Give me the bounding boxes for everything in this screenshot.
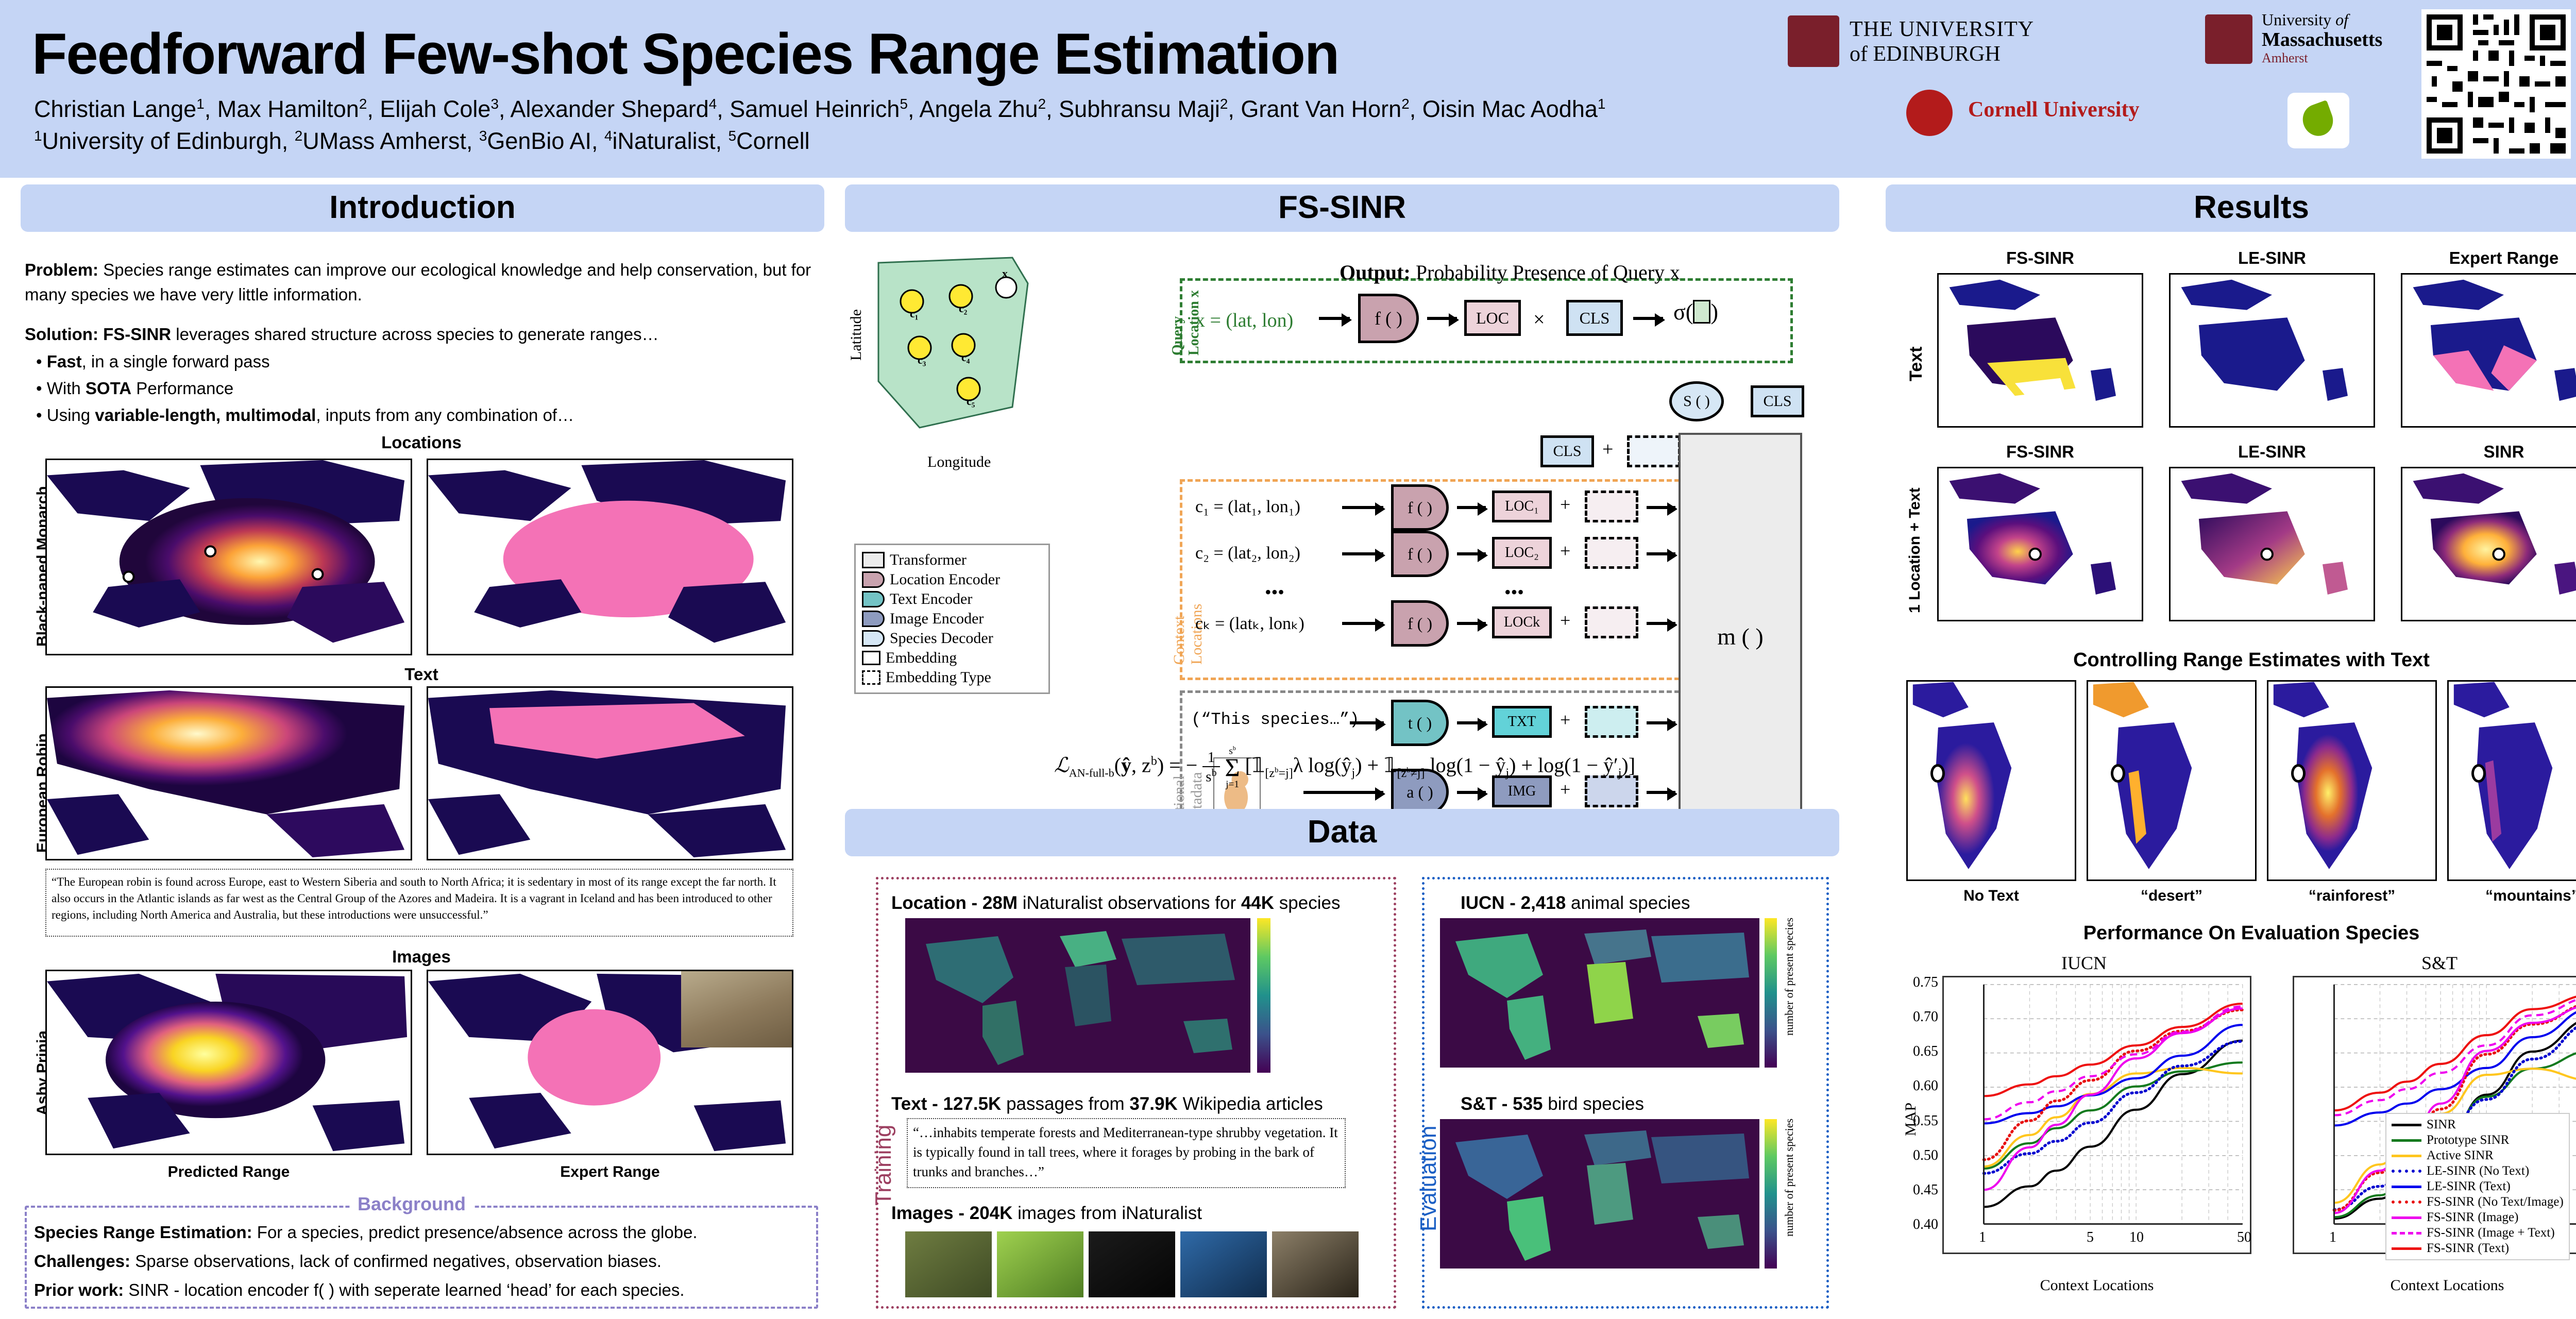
plus-k: + <box>1560 610 1570 631</box>
training-label: Training <box>871 1125 896 1206</box>
legend-line-icon <box>2392 1247 2421 1250</box>
legend-label: SINR <box>2427 1118 2456 1132</box>
image-thumbnail-strip <box>905 1231 1359 1297</box>
map-prinia-expert <box>427 970 793 1155</box>
affiliation-list: 1University of Edinburgh, 2UMass Amherst… <box>34 128 810 155</box>
legend-item-transformer: Transformer <box>862 550 1042 570</box>
iucn-caption: IUCN - 2,418 animal species <box>1461 890 1690 917</box>
species-photo <box>681 971 792 1047</box>
iucn-colorbar <box>1765 918 1777 1068</box>
output-label: Output: Probability Presence of Query x <box>1340 260 1680 284</box>
legend-label: Active SINR <box>2427 1148 2494 1163</box>
iucn-colorbar-label: number of present species <box>1783 918 1796 1036</box>
txt-token: TXT <box>1492 706 1552 738</box>
section-header-results: Results <box>1886 184 2576 232</box>
bullet-2-rest: Performance <box>131 379 233 398</box>
arrow-ctx-kb <box>1457 622 1486 625</box>
text-control-caption-3: “rainforest” <box>2267 887 2437 905</box>
results-map-r1c1 <box>1937 273 2143 428</box>
query-input: x = (lat, lon) <box>1195 309 1293 332</box>
svg-text:c₅: c₅ <box>967 395 975 408</box>
text-control-map-1 <box>1906 680 2076 881</box>
panel-title-text: Text <box>25 665 818 684</box>
arrow-ctx-2a <box>1342 552 1383 555</box>
text-control-caption-1: No Text <box>1906 887 2076 905</box>
embedding-type-txt <box>1585 706 1638 738</box>
results-map-r1c3 <box>2401 273 2576 428</box>
legend-line-icon <box>2392 1155 2421 1157</box>
transformer-swatch-icon <box>862 552 885 568</box>
results-row-label-1loc-text: 1 Location + Text <box>1906 487 1924 613</box>
embedding-type-1 <box>1585 491 1638 522</box>
iucn-rest1: animal species <box>1566 893 1690 913</box>
legend-line-icon <box>2392 1139 2421 1142</box>
bg-1-text: For a species, predict presence/absence … <box>252 1223 698 1242</box>
bullet-2-pre: With <box>47 379 86 398</box>
embedding-type-cls <box>1627 435 1681 467</box>
author-list: Christian Lange1, Max Hamilton2, Elijah … <box>34 96 1605 123</box>
thumbnail <box>1272 1231 1359 1297</box>
text-bold1: Text - 127.5K <box>891 1094 1001 1114</box>
chart-xlabel-st: Context Locations <box>2293 1277 2576 1294</box>
cornell-university-logo: Cornell University <box>1906 88 2226 139</box>
images-data-caption: Images - 204K images from iNaturalist <box>891 1200 1202 1227</box>
chart-iucn <box>1942 976 2251 1254</box>
legend-line-icon <box>2392 1124 2421 1126</box>
solution-label: Solution: FS-SINR <box>25 325 171 344</box>
solution-bullet-3: • Using variable-length, multimodal, inp… <box>36 403 574 428</box>
text-control-title: Controlling Range Estimates with Text <box>1886 649 2576 671</box>
x-tick: 1 <box>2318 1229 2347 1246</box>
location-encoder-swatch-icon <box>862 571 885 588</box>
sigmoid-output: σ() <box>1673 299 1718 325</box>
arrow-ctx-kc <box>1647 622 1675 625</box>
context-input-2: c₂ = (lat₂, lon₂) <box>1195 544 1300 563</box>
arrow-ctx-2c <box>1647 552 1675 555</box>
diagram-legend: Transformer Location Encoder Text Encode… <box>854 544 1050 694</box>
context-ellipsis-right: ••• <box>1504 581 1524 603</box>
results-row-label-text: Text <box>1906 347 1926 381</box>
chart-xlabel-iucn: Context Locations <box>1942 1277 2251 1294</box>
legend-label: LE-SINR (No Text) <box>2427 1164 2529 1178</box>
location-colorbar <box>1257 918 1270 1073</box>
legend-item-species-decoder: Species Decoder <box>862 629 1042 648</box>
solution-bullet-2: • With SOTA Performance <box>36 376 233 401</box>
context-input-k: cₖ = (latₖ, lonₖ) <box>1195 613 1304 634</box>
thumbnail <box>1180 1231 1267 1297</box>
cls-token-output: CLS <box>1751 385 1804 417</box>
text-encoder-swatch-icon <box>862 591 885 607</box>
text-control-map-4 <box>2447 680 2576 881</box>
svg-text:c₃: c₃ <box>918 353 926 366</box>
robin-quote: “The European robin is found across Euro… <box>45 869 793 937</box>
map-axis-latitude: Latitude <box>848 309 865 361</box>
results-title-r2c2: LE-SINR <box>2169 442 2375 462</box>
arrow-txt-a <box>1350 721 1384 724</box>
bullet-3-bold: variable-length, multimodal <box>95 405 316 425</box>
location-rest1: iNaturalist observations for <box>1018 893 1241 913</box>
thumbnail <box>997 1231 1083 1297</box>
solution-statement: Solution: FS-SINR leverages shared struc… <box>25 322 818 347</box>
y-tick: 0.65 <box>1904 1043 1938 1060</box>
legend-item-location-encoder: Location Encoder <box>862 570 1042 589</box>
results-title-r1c1: FS-SINR <box>1937 248 2143 268</box>
bullet-1-rest: , in a single forward pass <box>82 352 270 371</box>
bg-3-text: SINR - location encoder f( ) with sepera… <box>124 1280 684 1299</box>
results-title-r1c2: LE-SINR <box>2169 248 2375 268</box>
qr-code <box>2421 9 2571 159</box>
svg-text:c₂: c₂ <box>959 302 968 315</box>
x-tick: 1 <box>1968 1229 1997 1246</box>
chart-legend: SINRPrototype SINRActive SINRLE-SINR (No… <box>2385 1113 2570 1260</box>
context-map-illustration: c₁ c₂ c₃ c₄ c₅ x <box>858 252 1095 448</box>
text-sample-quote: “…inhabits temperate forests and Mediter… <box>907 1118 1346 1188</box>
performance-title: Performance On Evaluation Species <box>1886 922 2576 944</box>
y-tick: 0.50 <box>1904 1147 1938 1164</box>
text-control-map-2 <box>2087 680 2257 881</box>
legend-item: LE-SINR (No Text) <box>2392 1163 2564 1179</box>
x-tick: 5 <box>2076 1229 2105 1246</box>
legend-item: FS-SINR (Image) <box>2392 1210 2564 1225</box>
y-tick: 0.55 <box>1904 1113 1938 1129</box>
images-bold1: Images - 204K <box>891 1203 1012 1223</box>
embedding-type-k <box>1585 606 1638 638</box>
iucn-richness-map <box>1440 918 1759 1068</box>
location-density-map <box>905 918 1250 1073</box>
legend-label: FS-SINR (Image) <box>2427 1210 2518 1225</box>
st-richness-map <box>1440 1119 1759 1269</box>
arrow-img-a <box>1303 791 1383 794</box>
solution-text: leverages shared structure across specie… <box>171 325 659 344</box>
plus-txt: + <box>1560 709 1570 731</box>
text-rest2: Wikipedia articles <box>1178 1094 1323 1114</box>
section-header-introduction: Introduction <box>21 184 824 232</box>
loc-token-k: LOCk <box>1492 606 1552 638</box>
location-data-caption: Location - 28M iNaturalist observations … <box>891 890 1340 917</box>
text-data-caption: Text - 127.5K passages from 37.9K Wikipe… <box>891 1091 1323 1118</box>
legend-item: LE-SINR (Text) <box>2392 1179 2564 1194</box>
st-bold1: S&T - 535 <box>1461 1094 1543 1114</box>
background-item-3: Prior work: SINR - location encoder f( )… <box>34 1278 685 1303</box>
image-encoder-swatch-icon <box>862 611 885 627</box>
x-tick: 50 <box>2230 1229 2259 1246</box>
chart-title-st: S&T <box>2267 952 2576 974</box>
y-tick: 0.70 <box>1904 1009 1938 1025</box>
embedding-type-swatch-icon <box>862 670 880 685</box>
arrow-ctx-ka <box>1342 622 1383 625</box>
map-monarch-expert <box>427 459 793 655</box>
legend-item-text-encoder: Text Encoder <box>862 589 1042 609</box>
loc-token-1: LOC₁ <box>1492 491 1552 522</box>
results-map-r2c3 <box>2401 467 2576 621</box>
arrow-ctx-1b <box>1457 506 1486 509</box>
y-tick: 0.75 <box>1904 974 1938 991</box>
legend-item-image-encoder: Image Encoder <box>862 609 1042 629</box>
embedding-type-2 <box>1585 537 1638 569</box>
svg-text:c₄: c₄ <box>961 351 970 364</box>
results-title-r1c3: Expert Range <box>2401 248 2576 268</box>
section-header-fs-sinr: FS-SINR <box>845 184 1839 232</box>
legend-label: FS-SINR (Text) <box>2427 1241 2509 1256</box>
results-title-r2c1: FS-SINR <box>1937 442 2143 462</box>
text-encoder: t ( ) <box>1391 700 1449 746</box>
location-bold2: 44K <box>1241 893 1274 913</box>
legend-item: Active SINR <box>2392 1148 2564 1163</box>
legend-label: FS-SINR (Image + Text) <box>2427 1226 2555 1240</box>
arrow-query-3 <box>1633 317 1663 320</box>
text-control-caption-2: “desert” <box>2087 887 2257 905</box>
y-tick: 0.60 <box>1904 1078 1938 1094</box>
map-axis-longitude: Longitude <box>927 453 991 471</box>
arrow-txt-b <box>1457 721 1486 724</box>
solution-bullet-1: • Fast, in a single forward pass <box>36 349 270 374</box>
arrow-txt-c <box>1647 721 1675 724</box>
plus-2: + <box>1560 540 1570 562</box>
map-robin-predicted <box>45 686 412 860</box>
bullet-2-bold: SOTA <box>86 379 131 398</box>
results-map-r1c2 <box>2169 273 2375 428</box>
bg-1-label: Species Range Estimation: <box>34 1223 252 1242</box>
text-control-caption-4: “mountains” <box>2447 887 2576 905</box>
legend-item: FS-SINR (Text) <box>2392 1241 2564 1256</box>
loc-token-2: LOC₂ <box>1492 537 1552 569</box>
problem-statement: Problem: Species range estimates can imp… <box>25 258 818 307</box>
label-predicted-range: Predicted Range <box>45 1163 412 1181</box>
background-title: Background <box>350 1193 473 1215</box>
st-colorbar <box>1765 1119 1777 1269</box>
results-map-r2c1 <box>1937 467 2143 621</box>
page-title: Feedforward Few-shot Species Range Estim… <box>32 21 1338 87</box>
arrow-img-c <box>1647 791 1675 794</box>
arrow-query-1 <box>1319 317 1350 320</box>
x-tick: 10 <box>2122 1229 2151 1246</box>
label-expert-range: Expert Range <box>427 1163 793 1181</box>
problem-text: Species range estimates can improve our … <box>25 260 811 304</box>
thumbnail <box>1089 1231 1175 1297</box>
y-tick: 0.45 <box>1904 1182 1938 1198</box>
legend-line-icon <box>2392 1170 2421 1173</box>
arrow-query-2 <box>1427 317 1457 320</box>
bullet-3-pre: Using <box>47 405 95 425</box>
bg-2-text: Sparse observations, lack of confirmed n… <box>130 1252 662 1271</box>
background-item-2: Challenges: Sparse observations, lack of… <box>34 1249 662 1274</box>
inaturalist-logo <box>2287 93 2354 149</box>
cls-token-input: CLS <box>1540 435 1594 467</box>
bg-2-label: Challenges: <box>34 1252 130 1271</box>
evaluation-label: Evaluation <box>1416 1126 1442 1231</box>
loss-formula: ℒAN-full-b(ŷ, zb) = − 1 sb sb Σ j=1 [𝟙[z… <box>907 745 1783 790</box>
location-encoder-ck: f ( ) <box>1391 600 1449 647</box>
thumbnail <box>905 1231 992 1297</box>
section-header-data: Data <box>845 809 1839 856</box>
species-decoder: S ( ) <box>1669 381 1724 421</box>
context-ellipsis-left: ••• <box>1265 581 1284 603</box>
st-caption: S&T - 535 bird species <box>1461 1091 1644 1118</box>
location-encoder-c2: f ( ) <box>1391 531 1449 577</box>
legend-line-icon <box>2392 1186 2421 1188</box>
background-item-1: Species Range Estimation: For a species,… <box>34 1220 698 1245</box>
plus-cls: + <box>1602 438 1613 461</box>
location-encoder-c1: f ( ) <box>1391 484 1449 531</box>
panel-title-images: Images <box>25 947 818 967</box>
problem-label: Problem: <box>25 260 98 279</box>
text-control-map-3 <box>2267 680 2437 881</box>
text-input: (“This species…”) <box>1191 710 1359 729</box>
legend-item: FS-SINR (Image + Text) <box>2392 1225 2564 1241</box>
plus-1: + <box>1560 494 1570 515</box>
output-label-rest: Probability Presence of Query x <box>1411 261 1680 284</box>
chart-title-iucn: IUCN <box>1911 952 2257 974</box>
map-robin-expert <box>427 686 793 860</box>
text-rest1: passages from <box>1001 1094 1129 1114</box>
cls-token-query: CLS <box>1566 300 1623 336</box>
images-rest1: images from iNaturalist <box>1012 1203 1202 1223</box>
arrow-img-b <box>1457 791 1486 794</box>
output-label-bold: Output: <box>1340 261 1411 284</box>
context-input-1: c₁ = (lat₁, lon₁) <box>1195 497 1300 517</box>
arrow-ctx-2b <box>1457 552 1486 555</box>
legend-item: SINR <box>2392 1117 2564 1132</box>
legend-line-icon <box>2392 1200 2421 1204</box>
legend-label: FS-SINR (No Text/Image) <box>2427 1195 2564 1209</box>
results-map-r2c2 <box>2169 467 2375 621</box>
location-rest2: species <box>1274 893 1340 913</box>
legend-line-icon <box>2392 1232 2421 1235</box>
species-decoder-swatch-icon <box>862 630 885 647</box>
iucn-bold1: IUCN - 2,418 <box>1461 893 1566 913</box>
bg-3-label: Prior work: <box>34 1280 124 1299</box>
svg-text:x: x <box>1002 267 1008 280</box>
legend-item: FS-SINR (No Text/Image) <box>2392 1194 2564 1210</box>
bullet-1-bold: Fast <box>47 352 82 371</box>
multiply-symbol: × <box>1533 307 1545 331</box>
embedding-swatch-icon <box>862 651 880 665</box>
legend-item: Prototype SINR <box>2392 1132 2564 1148</box>
legend-item-embedding-type: Embedding Type <box>862 668 1042 687</box>
bullet-3-rest: , inputs from any combination of… <box>316 405 574 425</box>
legend-label: Prototype SINR <box>2427 1133 2509 1147</box>
legend-line-icon <box>2392 1216 2421 1219</box>
map-monarch-predicted <box>45 459 412 655</box>
university-of-edinburgh-logo: THE UNIVERSITY of EDINBURGH <box>1788 13 2179 70</box>
arrow-ctx-1a <box>1342 506 1383 509</box>
svg-text:c₁: c₁ <box>910 307 918 320</box>
text-bold2: 37.9K <box>1129 1094 1177 1114</box>
st-rest1: bird species <box>1543 1094 1644 1114</box>
loc-token-query: LOC <box>1464 300 1521 336</box>
location-bold1: Location - 28M <box>891 893 1018 913</box>
y-tick: 0.40 <box>1904 1216 1938 1233</box>
st-colorbar-label: number of present species <box>1783 1119 1796 1237</box>
poster-header: Feedforward Few-shot Species Range Estim… <box>0 0 2576 178</box>
legend-label: LE-SINR (Text) <box>2427 1179 2511 1194</box>
results-title-r2c3: SINR <box>2401 442 2576 462</box>
location-encoder-query: f ( ) <box>1358 294 1419 343</box>
legend-item-embedding: Embedding <box>862 648 1042 668</box>
arrow-ctx-1c <box>1647 506 1675 509</box>
panel-title-locations: Locations <box>25 433 818 452</box>
map-prinia-predicted <box>45 970 412 1155</box>
